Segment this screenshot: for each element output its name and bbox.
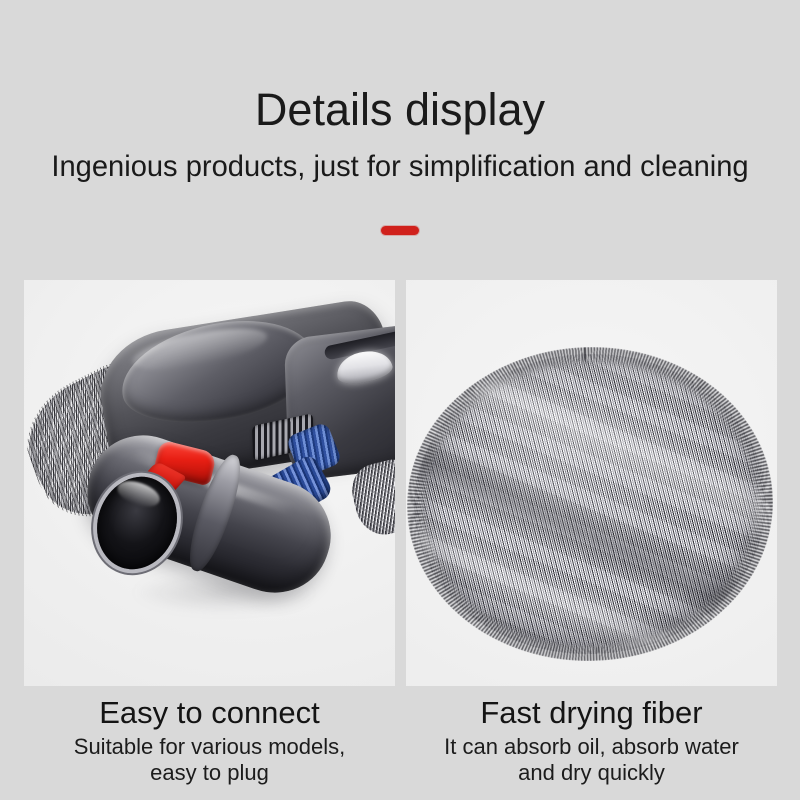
page-title: Details display: [0, 84, 800, 136]
page-subtitle: Ingenious products, just for simplificat…: [12, 149, 788, 185]
red-divider-dash: [381, 226, 419, 235]
caption-title: Easy to connect: [24, 694, 395, 732]
vacuum-head-connector-photo: [24, 280, 395, 686]
caption-text: It can absorb oil, absorb water and dry …: [406, 734, 777, 786]
header-section: Details display Ingenious products, just…: [0, 0, 800, 270]
caption-easy-to-connect: Easy to connect Suitable for various mod…: [24, 694, 395, 794]
caption-text: Suitable for various models, easy to plu…: [24, 734, 395, 786]
microfiber-pad: [409, 348, 771, 660]
caption-fast-drying-fiber: Fast drying fiber It can absorb oil, abs…: [406, 694, 777, 794]
product-image-panels: [24, 280, 777, 686]
panel-microfiber-pad: [406, 280, 777, 686]
caption-title: Fast drying fiber: [406, 694, 777, 732]
round-microfiber-mop-pad-photo: [406, 280, 777, 686]
panel-vacuum-head-connector: [24, 280, 395, 686]
caption-row: Easy to connect Suitable for various mod…: [24, 694, 777, 794]
